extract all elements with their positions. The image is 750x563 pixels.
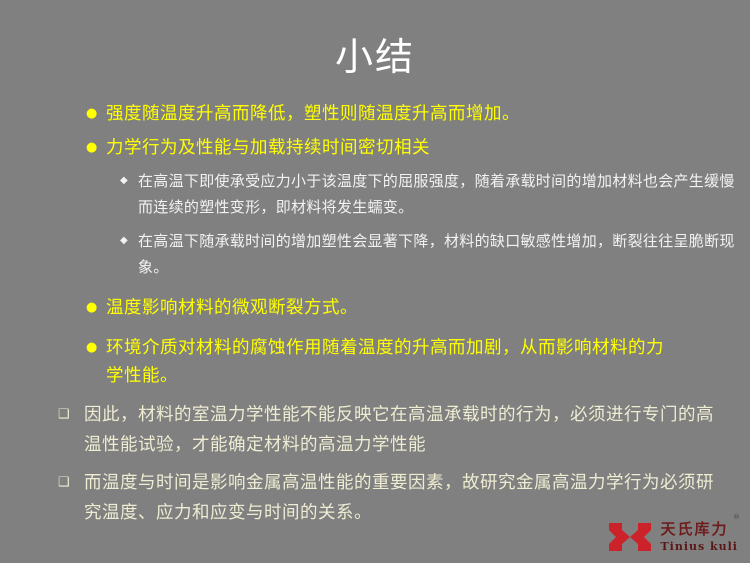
bullet-square-icon: ❑ — [58, 400, 84, 430]
bullet-text: 力学行为及性能与加载持续时间密切相关 — [106, 134, 430, 162]
sub-bullet-text: 在高温下即使承受应力小于该温度下的屈服强度，随着承载时间的增加材料也会产生缓慢而… — [138, 168, 738, 220]
bullet-item-1: ● 强度随温度升高而降低，塑性则随温度升高而增加。 — [0, 100, 750, 128]
page-title: 小结 — [0, 34, 750, 80]
bullet-round-icon: ● — [86, 294, 106, 322]
bullet-item-3: ● 温度影响材料的微观断裂方式。 — [0, 294, 750, 322]
bullet-round-icon: ● — [86, 334, 106, 362]
sub-bullet-item-1: ◆ 在高温下即使承受应力小于该温度下的屈服强度，随着承载时间的增加材料也会产生缓… — [0, 168, 750, 220]
bullet-diamond-icon: ◆ — [120, 168, 138, 194]
bullet-text: 温度影响材料的微观断裂方式。 — [106, 294, 358, 322]
conclusion-item-1: ❑ 因此，材料的室温力学性能不能反映它在高温承载时的行为，必须进行专门的高温性能… — [0, 400, 750, 460]
slide: 小结 ● 强度随温度升高而降低，塑性则随温度升高而增加。 ● 力学行为及性能与加… — [0, 0, 750, 563]
bullet-item-4: ● 环境介质对材料的腐蚀作用随着温度的升高而加剧，从而影响材料的力学性能。 — [0, 334, 750, 390]
tinius-kuli-mark-icon — [607, 522, 653, 552]
bullet-diamond-icon: ◆ — [120, 228, 138, 254]
brand-name-cn: 天氏库力 — [660, 522, 738, 537]
bullet-round-icon: ● — [86, 134, 106, 162]
bullet-item-2: ● 力学行为及性能与加载持续时间密切相关 — [0, 134, 750, 162]
bullet-round-icon: ● — [86, 100, 106, 128]
sub-bullet-item-2: ◆ 在高温下随承载时间的增加塑性会显著下降，材料的缺口敏感性增加，断裂往往呈脆断… — [0, 228, 750, 280]
brand-logo-text: ® 天氏库力 Tinius kuli — [660, 522, 738, 552]
slide-body: ● 强度随温度升高而降低，塑性则随温度升高而增加。 ● 力学行为及性能与加载持续… — [0, 100, 750, 530]
brand-logo: ® 天氏库力 Tinius kuli — [607, 517, 738, 557]
bullet-text: 强度随温度升高而降低，塑性则随温度升高而增加。 — [106, 100, 520, 128]
bullet-text: 环境介质对材料的腐蚀作用随着温度的升高而加剧，从而影响材料的力学性能。 — [106, 334, 666, 390]
trademark-icon: ® — [733, 514, 740, 521]
sub-bullet-text: 在高温下随承载时间的增加塑性会显著下降，材料的缺口敏感性增加，断裂往往呈脆断现象… — [138, 228, 738, 280]
bullet-square-icon: ❑ — [58, 468, 84, 498]
brand-name-en: Tinius kuli — [660, 541, 738, 552]
conclusion-text: 因此，材料的室温力学性能不能反映它在高温承载时的行为，必须进行专门的高温性能试验… — [84, 400, 724, 460]
